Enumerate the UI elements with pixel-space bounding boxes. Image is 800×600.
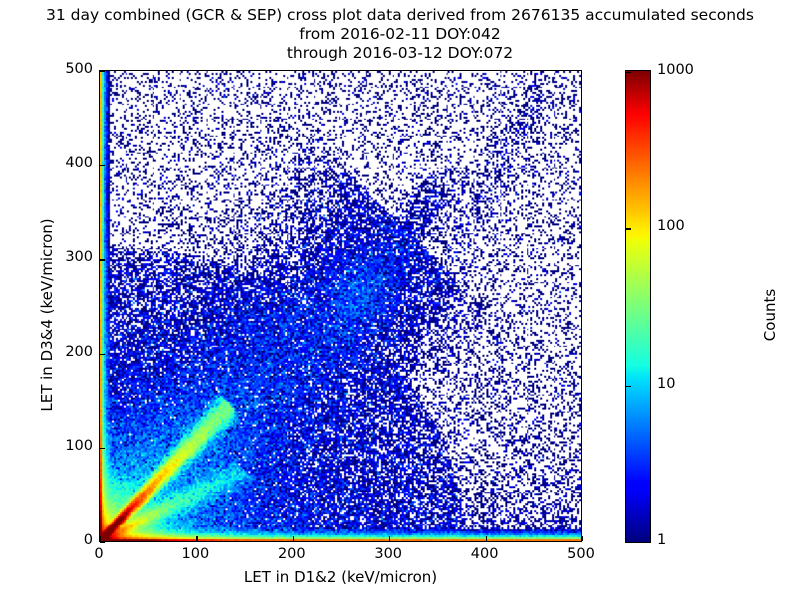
x-ticklabel-400: 400: [455, 546, 515, 562]
title-line-3: through 2016-03-12 DOY:072: [0, 44, 800, 63]
x-ticklabel-200: 200: [262, 546, 322, 562]
colorbar-tick-100: [626, 228, 631, 229]
x-tick-200: [293, 536, 294, 541]
x-ticklabel-0: 0: [69, 546, 129, 562]
colorbar-ticklabel-1: 1: [657, 532, 666, 548]
colorbar: [625, 70, 651, 543]
figure-canvas: 31 day combined (GCR & SEP) cross plot d…: [0, 0, 800, 600]
colorbar-tick-10: [626, 386, 631, 387]
colorbar-gradient: [626, 71, 650, 542]
x-ticklabel-300: 300: [358, 546, 418, 562]
colorbar-ticklabel-1000: 1000: [657, 62, 694, 78]
y-tick-100: [100, 448, 105, 449]
y-tick-200: [100, 354, 105, 355]
y-tick-400: [100, 165, 105, 166]
heatmap-plot-area: [100, 71, 581, 541]
colorbar-ticklabel-10: 10: [657, 376, 675, 392]
y-tick-300: [100, 259, 105, 260]
y-tick-0: [100, 542, 105, 543]
colorbar-label: Counts: [761, 165, 779, 465]
y-axis-label: LET in D3&4 (keV/micron): [38, 165, 56, 465]
x-tick-500: [582, 536, 583, 541]
x-ticklabel-500: 500: [551, 546, 611, 562]
y-tick-500: [100, 71, 105, 72]
colorbar-ticklabel-100: 100: [657, 218, 685, 234]
title-line-1: 31 day combined (GCR & SEP) cross plot d…: [0, 6, 800, 25]
y-ticklabel-500: 500: [33, 61, 93, 77]
x-tick-400: [486, 536, 487, 541]
title-line-2: from 2016-02-11 DOY:042: [0, 25, 800, 44]
figure-title: 31 day combined (GCR & SEP) cross plot d…: [0, 6, 800, 63]
x-tick-0: [100, 536, 101, 541]
x-ticklabel-100: 100: [165, 546, 225, 562]
colorbar-tick-1000: [626, 72, 631, 73]
plot-axes: [99, 70, 582, 542]
y-ticklabel-0: 0: [33, 532, 93, 548]
x-tick-100: [196, 536, 197, 541]
x-tick-300: [389, 536, 390, 541]
colorbar-tick-1: [626, 542, 631, 543]
x-axis-label: LET in D1&2 (keV/micron): [99, 568, 582, 586]
